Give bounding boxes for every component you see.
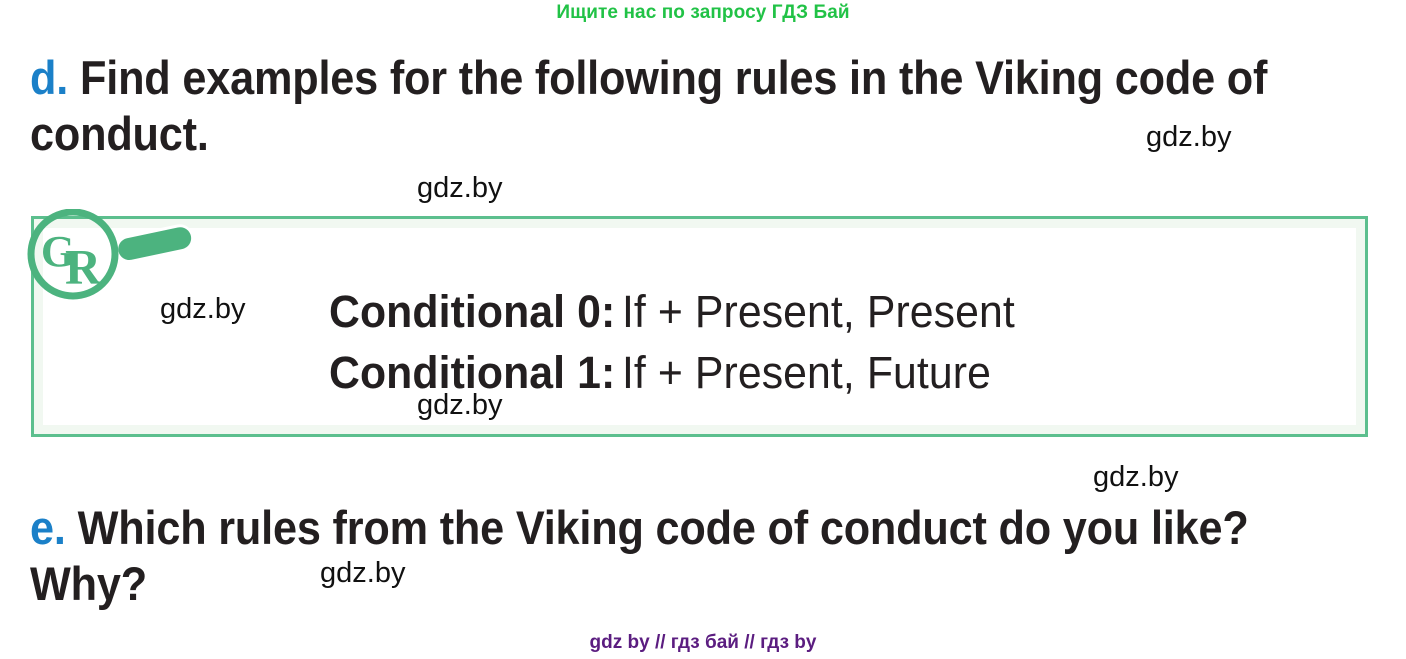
conditional-rule-0: Conditional 0:If + Present, Present: [329, 281, 1015, 342]
exercise-d-text: Find examples for the following rules in…: [30, 51, 1267, 160]
exercise-d: d.Find examples for the following rules …: [30, 50, 1267, 162]
exercise-e-text: Which rules from the Viking code of cond…: [30, 501, 1249, 610]
watermark: gdz.by: [417, 389, 502, 422]
watermark: gdz.by: [320, 557, 405, 590]
conditional-rule-0-formula: If + Present, Present: [622, 286, 1015, 337]
exercise-e-marker: e.: [30, 501, 66, 554]
exercise-d-marker: d.: [30, 51, 68, 104]
grammar-rule-box-inner: Conditional 0:If + Present, Present Cond…: [43, 228, 1356, 425]
promo-banner: Ищите нас по запросу ГДЗ Бай: [0, 2, 1406, 24]
conditional-rules-list: Conditional 0:If + Present, Present Cond…: [329, 281, 1051, 403]
conditional-rule-0-label: Conditional 0:: [329, 286, 615, 337]
grammar-rule-box: Conditional 0:If + Present, Present Cond…: [31, 216, 1368, 437]
exercise-e: e.Which rules from the Viking code of co…: [30, 500, 1267, 612]
watermark: gdz.by: [1093, 461, 1178, 494]
watermark: gdz.by: [160, 293, 245, 326]
conditional-rule-1-formula: If + Present, Future: [622, 347, 991, 398]
watermark: gdz.by: [417, 172, 502, 205]
watermark: gdz.by: [1146, 121, 1231, 154]
footer-watermark: gdz by // гдз бай // гдз by: [0, 632, 1406, 654]
